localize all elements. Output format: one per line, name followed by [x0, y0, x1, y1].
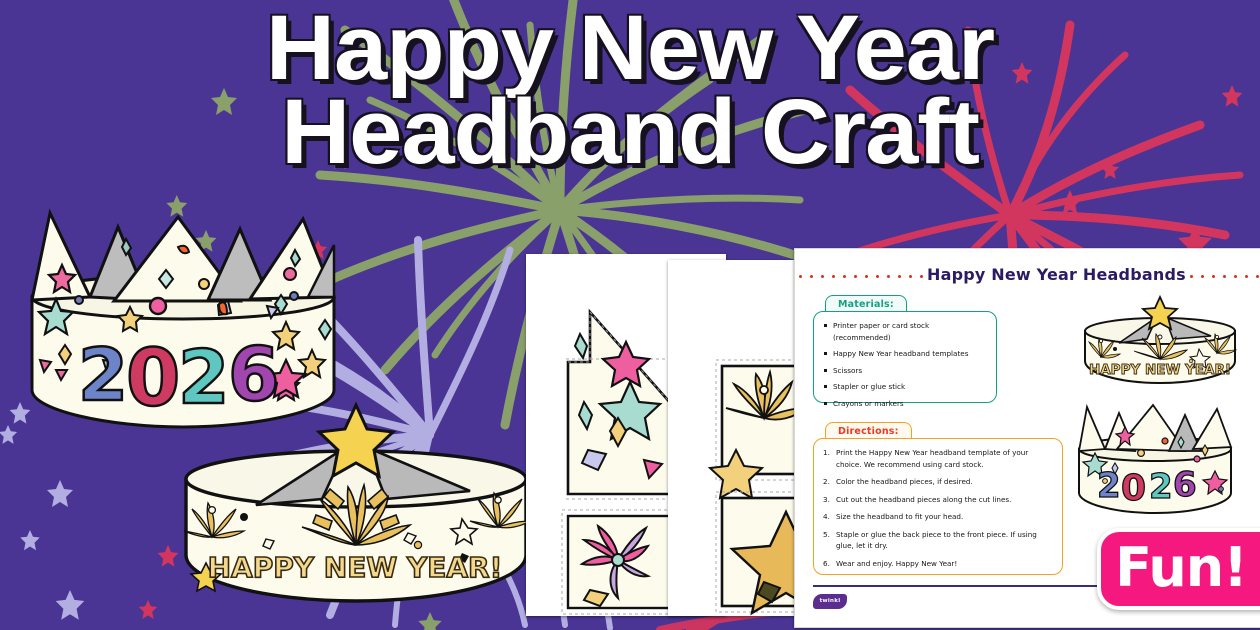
thumb-2026-crown: 2 0 2 6: [1065, 401, 1245, 519]
dot-divider-right: [1186, 266, 1260, 285]
directions-item: 1.Print the Happy New Year headband temp…: [822, 447, 1054, 470]
directions-number: 1.: [823, 447, 830, 459]
directions-box: 1.Print the Happy New Year headband temp…: [813, 438, 1063, 575]
hero-title: Happy New Year Headband Craft: [0, 6, 1260, 174]
directions-text: Print the Happy New Year headband templa…: [836, 448, 1028, 469]
materials-box: Printer paper or card stock (recommended…: [813, 311, 997, 403]
directions-item: 5.Staple or glue the back piece to the f…: [822, 529, 1054, 552]
directions-number: 6.: [823, 558, 830, 570]
hero-title-line-1: Happy New Year: [0, 6, 1260, 90]
materials-item: Happy New Year headband templates: [824, 348, 988, 360]
document-title-row: Happy New Year Headbands: [795, 265, 1260, 285]
fun-badge: Fun!: [1097, 528, 1260, 610]
materials-item: Stapler or glue stick: [824, 381, 988, 393]
directions-list: 1.Print the Happy New Year headband temp…: [814, 439, 1062, 569]
directions-text: Size the headband to fit your head.: [836, 512, 963, 521]
directions-number: 2.: [823, 476, 830, 488]
svg-text:0: 0: [1121, 468, 1146, 509]
svg-text:2: 2: [78, 333, 128, 417]
document-title: Happy New Year Headbands: [927, 265, 1186, 284]
materials-item: Printer paper or card stock (recommended…: [824, 320, 988, 343]
directions-text: Cut out the headband pieces along the cu…: [836, 495, 1011, 504]
directions-item: 6.Wear and enjoy. Happy New Year!: [822, 558, 1054, 570]
twinkl-logo: twinkl: [813, 594, 847, 609]
directions-number: 3.: [823, 494, 830, 506]
directions-item: 3.Cut out the headband pieces along the …: [822, 494, 1054, 506]
directions-number: 4.: [823, 511, 830, 523]
directions-number: 5.: [823, 529, 830, 541]
materials-item: Crayons or markers: [824, 398, 988, 410]
directions-text: Wear and enjoy. Happy New Year!: [836, 559, 957, 568]
svg-text:2: 2: [1097, 466, 1121, 506]
fun-badge-label: Fun!: [1101, 536, 1260, 600]
materials-list: Printer paper or card stock (recommended…: [814, 312, 996, 409]
preview-canvas: Happy New Year Headband Craft: [0, 0, 1260, 630]
directions-item: 4.Size the headband to fit your head.: [822, 511, 1054, 523]
happy-new-year-headband-illustration: HAPPY NEW YEAR!: [170, 395, 540, 620]
directions-text: Color the headband pieces, if desired.: [836, 477, 973, 486]
headband-text: HAPPY NEW YEAR!: [208, 551, 503, 584]
directions-item: 2.Color the headband pieces, if desired.: [822, 476, 1054, 488]
materials-item: Scissors: [824, 365, 988, 377]
dot-divider-left: [795, 266, 927, 285]
document-footer-rule: [813, 585, 1137, 587]
thumb-headband-text: HAPPY NEW YEAR!: [1089, 362, 1231, 378]
thumb-happy-new-year-headband: HAPPY NEW YEAR!: [1075, 291, 1245, 391]
svg-text:2: 2: [1149, 467, 1173, 507]
svg-text:6: 6: [1173, 465, 1197, 505]
directions-text: Staple or glue the back piece to the fro…: [836, 530, 1037, 551]
hero-title-line-2: Headband Craft: [0, 90, 1260, 174]
